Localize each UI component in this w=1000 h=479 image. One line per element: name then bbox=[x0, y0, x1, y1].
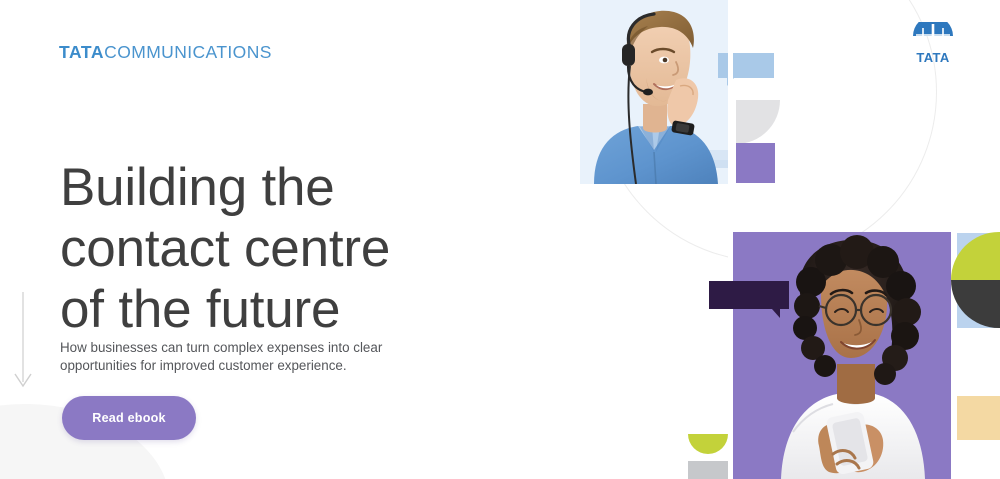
speech-bubble-dark bbox=[709, 281, 789, 309]
tata-logo-wordmark: TATA bbox=[909, 50, 957, 65]
agent-photo-panel bbox=[580, 0, 728, 184]
page-title: Building the contact centre of the futur… bbox=[60, 157, 530, 340]
agent-photo bbox=[580, 0, 728, 184]
half-circle-lime bbox=[688, 434, 728, 454]
headline-line-3: of the future bbox=[60, 280, 340, 339]
circle-half-charcoal bbox=[951, 280, 1000, 328]
panel-gap-divider bbox=[728, 0, 733, 479]
speech-bubble-blue bbox=[718, 53, 774, 78]
customer-photo bbox=[733, 232, 951, 479]
hero-banner: TATACOMMUNICATIONS TATA Building the con… bbox=[0, 0, 1000, 479]
square-purple bbox=[736, 143, 775, 183]
split-circle-lime-charcoal bbox=[951, 232, 1000, 328]
logo-communications-text: COMMUNICATIONS bbox=[104, 42, 272, 62]
logo-tata-text: TATA bbox=[59, 42, 104, 62]
rectangle-tan bbox=[957, 396, 1000, 440]
tata-communications-logo[interactable]: TATACOMMUNICATIONS bbox=[59, 42, 272, 63]
headline-line-1: Building the bbox=[60, 158, 335, 217]
hero-subcopy: How businesses can turn complex expenses… bbox=[60, 339, 460, 375]
headline-line-2: contact centre bbox=[60, 219, 390, 278]
customer-photo-panel bbox=[733, 232, 951, 479]
read-ebook-button[interactable]: Read ebook bbox=[62, 396, 196, 440]
rectangle-grey bbox=[688, 461, 728, 479]
circle-half-lime bbox=[951, 232, 1000, 280]
scroll-down-arrow-icon[interactable] bbox=[10, 292, 36, 392]
